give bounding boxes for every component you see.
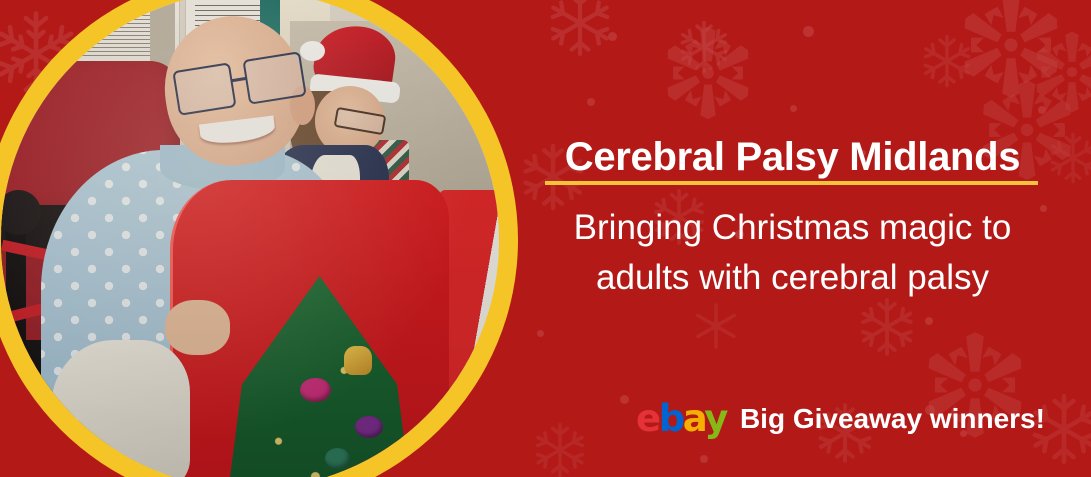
banner-subtitle: Bringing Christmas magic to adults with … [545,203,1040,303]
christmas-charity-banner: Cerebral Palsy Midlands Bringing Christm… [0,0,1091,477]
ebay-letter-y: y [704,397,726,440]
photo-scene [1,0,499,477]
ebay-letter-b: b [659,397,683,440]
glasses-lens-right [243,51,308,104]
ebay-letter-a: a [683,397,704,440]
giveaway-label: Big Giveaway winners! [740,405,1045,433]
photo-circle-frame [0,0,518,477]
man-sleeve-cuff [51,340,190,477]
ebay-logo-icon: ebay [636,400,726,437]
snowflake-icon [1045,130,1091,186]
bell-ornament [344,346,372,375]
bauble-ornament [325,448,350,469]
ebay-letter-e: e [636,397,659,440]
subtitle-line-1: Bringing Christmas magic to [545,203,1040,253]
page-title: Cerebral Palsy Midlands [545,134,1040,180]
santa-hat-pompom [300,41,325,61]
man-hand [165,300,230,355]
giveaway-row: ebay Big Giveaway winners! [636,400,1045,437]
glasses-lens-left [173,62,238,115]
bauble-ornament [372,461,397,477]
christmas-tree-print [217,276,421,477]
snow-dot [537,330,544,337]
event-photo [1,0,499,477]
subtitle-line-2: adults with cerebral palsy [545,253,1040,303]
snow-dot [1040,205,1047,212]
banner-text-block: Cerebral Palsy Midlands Bringing Christm… [545,0,1040,477]
bauble-ornament [300,378,330,402]
title-underline [545,181,1038,185]
